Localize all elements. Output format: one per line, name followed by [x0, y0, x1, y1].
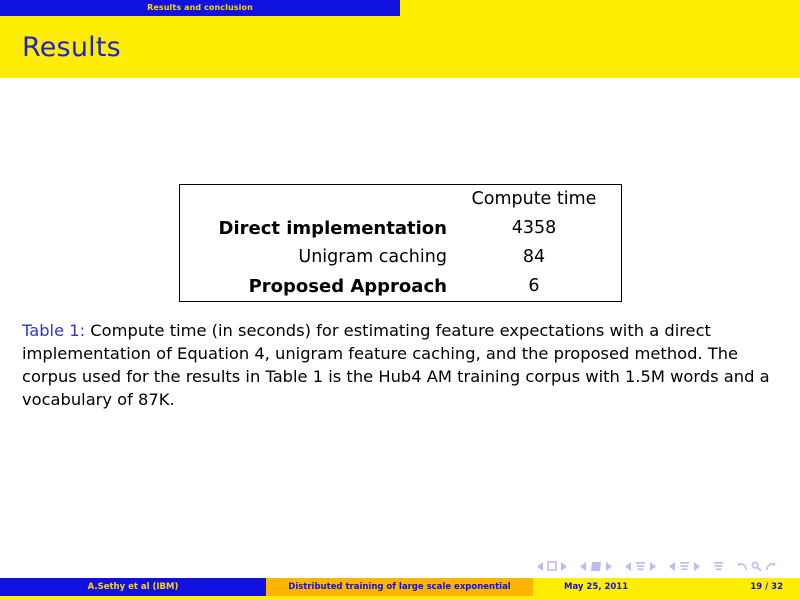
slide-body: Compute time Direct implementation 4358 … — [0, 78, 800, 550]
footer-right-group: May 25, 2011 19 / 32 — [533, 578, 800, 596]
table-header-compute-time: Compute time — [447, 185, 622, 215]
caption-label: Table 1: — [22, 321, 85, 340]
subsection-lines-icon[interactable] — [635, 561, 646, 572]
triangle-right-icon[interactable] — [605, 562, 612, 571]
triangle-left-icon[interactable] — [580, 562, 587, 571]
table-row: Direct implementation 4358 — [180, 214, 622, 243]
row-label-direct-implementation: Direct implementation — [180, 214, 447, 243]
triangle-left-icon[interactable] — [669, 562, 676, 571]
triangle-right-icon[interactable] — [560, 562, 567, 571]
nav-frame-group[interactable] — [580, 561, 612, 572]
slide-square-icon[interactable] — [547, 561, 557, 571]
nav-back-search-forward-group[interactable] — [737, 561, 776, 572]
table-header-row: Compute time — [180, 185, 622, 215]
page-title: Results — [22, 34, 121, 61]
triangle-right-icon[interactable] — [649, 562, 656, 571]
undo-arrow-icon[interactable] — [737, 561, 748, 572]
table-caption: Table 1: Compute time (in seconds) for e… — [22, 319, 774, 412]
footer-author: A.Sethy et al (IBM) — [0, 578, 266, 596]
nav-section-group[interactable] — [669, 561, 700, 572]
results-table-container: Compute time Direct implementation 4358 … — [179, 184, 622, 302]
row-value-direct-implementation: 4358 — [447, 214, 622, 243]
footer-date: May 25, 2011 — [564, 582, 628, 592]
table-row: Unigram caching 84 — [180, 243, 622, 272]
nav-slide-group[interactable] — [537, 561, 567, 571]
nav-section-label: Results and conclusion — [147, 4, 253, 12]
table-row: Proposed Approach 6 — [180, 272, 622, 302]
navigation-bar: Results and conclusion — [0, 0, 800, 16]
section-lines-icon[interactable] — [679, 561, 690, 572]
title-band: Results — [0, 16, 800, 78]
caption-text: Compute time (in seconds) for estimating… — [22, 321, 770, 409]
frame-filled-icon[interactable] — [590, 561, 602, 572]
row-value-unigram-caching: 84 — [447, 243, 622, 272]
footer-short-title: Distributed training of large scale expo… — [266, 578, 533, 596]
search-icon[interactable] — [751, 561, 762, 572]
nav-section-results-and-conclusion[interactable]: Results and conclusion — [0, 0, 400, 16]
results-table: Compute time Direct implementation 4358 … — [179, 184, 622, 302]
table-header-blank — [180, 185, 447, 215]
footer-bar: A.Sethy et al (IBM) Distributed training… — [0, 578, 800, 600]
nav-subsection-group[interactable] — [625, 561, 656, 572]
redo-arrow-icon[interactable] — [765, 561, 776, 572]
triangle-right-icon[interactable] — [693, 562, 700, 571]
results-table-body: Compute time Direct implementation 4358 … — [180, 185, 622, 302]
row-value-proposed-approach: 6 — [447, 272, 622, 302]
triangle-left-icon[interactable] — [625, 562, 632, 571]
nav-presentation-group[interactable] — [713, 561, 724, 572]
presentation-lines-icon[interactable] — [713, 561, 724, 572]
triangle-left-icon[interactable] — [537, 562, 544, 571]
row-label-proposed-approach: Proposed Approach — [180, 272, 447, 302]
footer-page-number: 19 / 32 — [750, 582, 783, 592]
beamer-navigation-symbols — [0, 556, 800, 576]
row-label-unigram-caching: Unigram caching — [180, 243, 447, 272]
